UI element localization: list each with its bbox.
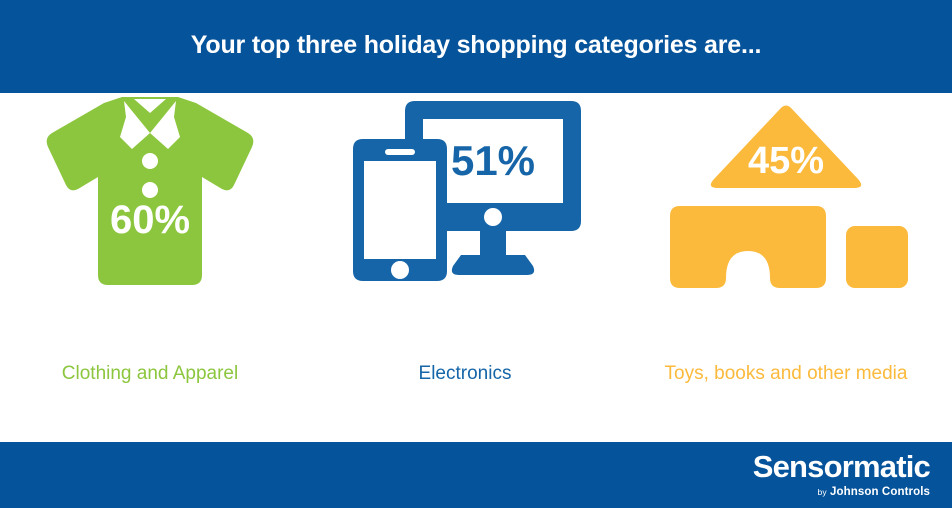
square-block-icon [846, 226, 908, 288]
monitor-and-smartphone-icon: 51% [349, 93, 581, 283]
building-blocks-icon: 45% [662, 93, 910, 298]
logo-by-text: by [818, 487, 827, 497]
logo-parent-company: Johnson Controls [830, 486, 930, 498]
electronics-percentage-value: 51% [451, 137, 535, 184]
category-electronics: 51% Electronics [320, 93, 610, 442]
logo-wordmark: Sensormatic [753, 450, 930, 484]
category-label-clothing: Clothing and Apparel [0, 363, 300, 385]
arch-block-icon [670, 206, 826, 288]
categories-stage: 60% Clothing and Apparel [0, 93, 952, 442]
logo-tagline: by Johnson Controls [753, 485, 930, 499]
header-banner: Your top three holiday shopping categori… [0, 0, 952, 93]
toys-icon-area: 45% [620, 93, 952, 348]
page-title: Your top three holiday shopping categori… [0, 31, 952, 60]
category-toys-books-media: 45% Toys, books and other media [620, 93, 952, 442]
clothing-icon-area: 60% [0, 93, 300, 348]
category-label-electronics: Electronics [320, 363, 610, 385]
smartphone-icon [353, 139, 447, 281]
infographic-canvas: Your top three holiday shopping categori… [0, 0, 952, 508]
category-label-toys: Toys, books and other media [620, 363, 952, 385]
electronics-icon-area: 51% [320, 93, 610, 348]
toys-percentage-value: 45% [748, 140, 824, 182]
sensormatic-logo: Sensormatic by Johnson Controls [753, 450, 930, 499]
polo-shirt-icon: 60% [44, 93, 256, 289]
clothing-percentage-value: 60% [110, 198, 190, 242]
category-clothing-and-apparel: 60% Clothing and Apparel [0, 93, 300, 442]
footer-banner: Sensormatic by Johnson Controls [0, 442, 952, 508]
